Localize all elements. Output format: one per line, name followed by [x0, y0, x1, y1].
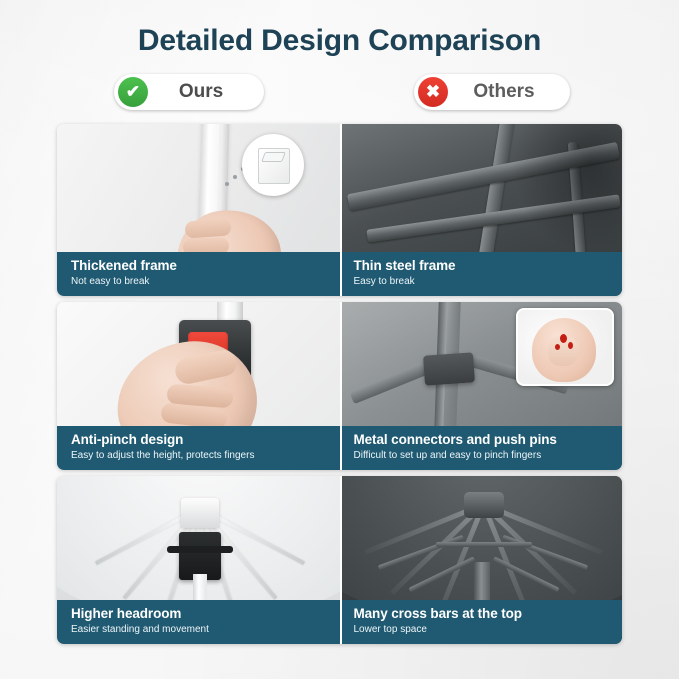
badge-ours: ✔ Ours — [114, 74, 264, 110]
row-2-others-cell: Metal connectors and push pins Difficult… — [340, 302, 623, 470]
row-1-others-title: Thin steel frame — [354, 258, 611, 274]
row-2-ours-title: Anti-pinch design — [71, 432, 328, 448]
page-title: Detailed Design Comparison — [0, 24, 679, 58]
row-3-others-cell: Many cross bars at the top Lower top spa… — [340, 476, 623, 644]
row-1-ours-sub: Not easy to break — [71, 275, 328, 288]
cross-icon: ✖ — [418, 77, 448, 107]
comparison-row-3: Higher headroom Easier standing and move… — [57, 476, 622, 644]
badge-others: ✖ Others — [414, 74, 570, 110]
row-1-divider — [340, 124, 342, 296]
comparison-row-1: Thickened frame Not easy to break Thin s… — [57, 124, 622, 296]
row-1-others-cell: Thin steel frame Easy to break — [340, 124, 623, 296]
row-1-ours-title: Thickened frame — [71, 258, 328, 274]
badge-others-label: Others — [448, 81, 564, 103]
row-3-ours-sub: Easier standing and movement — [71, 623, 328, 636]
row-3-ours-title: Higher headroom — [71, 606, 328, 622]
row-2-others-sub: Difficult to set up and easy to pinch fi… — [354, 449, 611, 462]
row-3-divider — [340, 476, 342, 644]
check-icon: ✔ — [118, 77, 148, 107]
frame-cross-section-callout — [242, 134, 304, 196]
comparison-infographic: Detailed Design Comparison ✔ Ours ✖ Othe… — [0, 0, 679, 679]
row-2-divider — [340, 302, 342, 470]
row-2-ours-sub: Easy to adjust the height, protects fing… — [71, 449, 328, 462]
row-1-ours-caption: Thickened frame Not easy to break — [57, 252, 340, 296]
row-1-ours-cell: Thickened frame Not easy to break — [57, 124, 340, 296]
injured-finger-inset — [516, 308, 614, 386]
row-2-ours-cell: Anti-pinch design Easy to adjust the hei… — [57, 302, 340, 470]
row-2-others-caption: Metal connectors and push pins Difficult… — [340, 426, 623, 470]
row-3-others-title: Many cross bars at the top — [354, 606, 611, 622]
comparison-row-2: Anti-pinch design Easy to adjust the hei… — [57, 302, 622, 470]
badge-row: ✔ Ours ✖ Others — [62, 74, 622, 112]
row-1-others-sub: Easy to break — [354, 275, 611, 288]
row-2-ours-caption: Anti-pinch design Easy to adjust the hei… — [57, 426, 340, 470]
badge-ours-label: Ours — [148, 81, 258, 103]
row-3-others-caption: Many cross bars at the top Lower top spa… — [340, 600, 623, 644]
row-1-others-caption: Thin steel frame Easy to break — [340, 252, 623, 296]
row-2-others-title: Metal connectors and push pins — [354, 432, 611, 448]
row-3-ours-caption: Higher headroom Easier standing and move… — [57, 600, 340, 644]
row-3-others-sub: Lower top space — [354, 623, 611, 636]
row-3-ours-cell: Higher headroom Easier standing and move… — [57, 476, 340, 644]
